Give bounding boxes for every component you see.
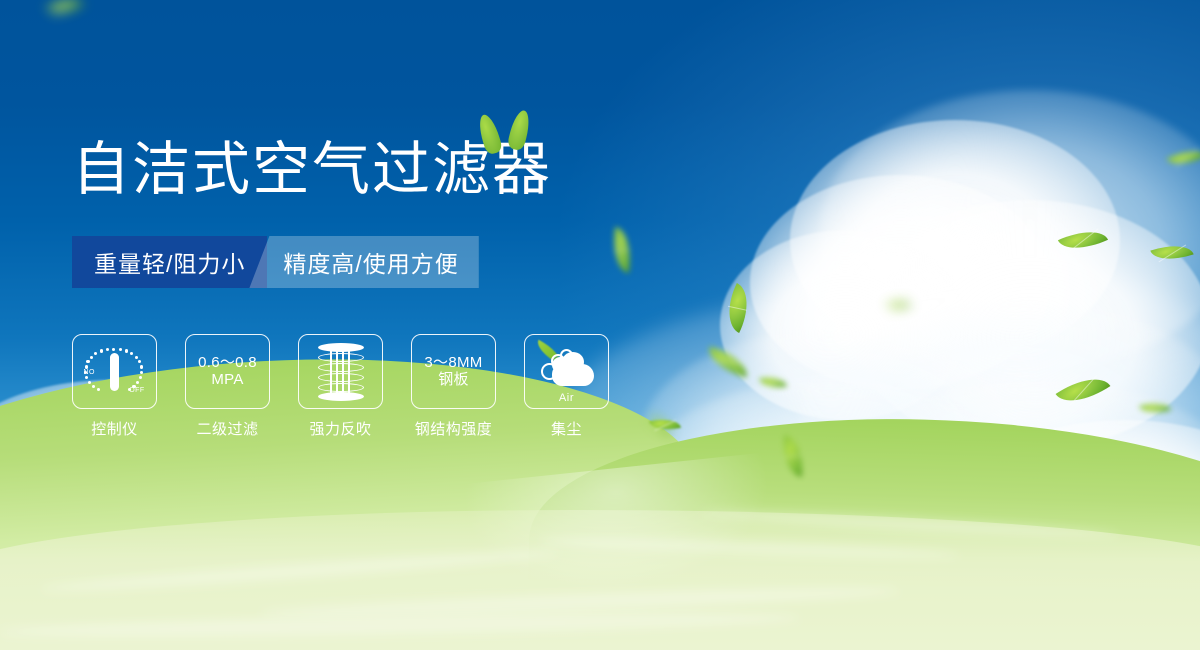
gauge-needle [110, 353, 119, 391]
feature-label: 强力反吹 [309, 418, 371, 439]
feature-box: 0.6～0.8 MPA [185, 334, 270, 409]
dust-cloud-icon [538, 348, 596, 388]
pressure-value-line2: MPA [211, 372, 243, 389]
gauge-label-no: NO [84, 369, 95, 376]
sprout-leaf-left [476, 112, 504, 155]
feature-label: 集尘 [551, 418, 582, 439]
subtitle-segment-right: 精度高/使用方便 [249, 236, 478, 288]
pressure-value-line1: 0.6～0.8 [198, 355, 257, 372]
dust-icon-caption: Air [525, 392, 608, 404]
feature-item-backblow[interactable]: 强力反吹 [298, 334, 383, 439]
feature-label: 二级过滤 [196, 418, 258, 439]
feature-item-control[interactable]: NO OFF 控制仪 [72, 334, 157, 439]
feature-label: 钢结构强度 [415, 418, 493, 439]
feature-item-dust[interactable]: Air 集尘 [524, 334, 609, 439]
control-gauge-icon: NO OFF [84, 344, 146, 400]
subtitle-bar: 重量轻/阻力小 精度高/使用方便 [72, 236, 479, 288]
feature-item-steel[interactable]: 3～8MM 钢板 钢结构强度 [411, 334, 496, 439]
feature-box: 3～8MM 钢板 [411, 334, 496, 409]
feature-label: 控制仪 [91, 418, 138, 439]
feature-box [298, 334, 383, 409]
sprout-leaves-icon [476, 108, 540, 160]
sprout-leaf-right [506, 109, 532, 152]
feature-list: NO OFF 控制仪 0.6～0.8 MPA 二级过滤 [72, 334, 609, 439]
steel-value-line2: 钢板 [438, 372, 469, 389]
feature-box: NO OFF [72, 334, 157, 409]
product-banner: 自洁式空气过滤器 重量轻/阻力小 精度高/使用方便 [0, 0, 1200, 650]
steel-value-line1: 3～8MM [424, 355, 482, 372]
feature-item-pressure[interactable]: 0.6～0.8 MPA 二级过滤 [185, 334, 270, 439]
feature-box: Air [524, 334, 609, 409]
subtitle-segment-left: 重量轻/阻力小 [72, 236, 267, 288]
title-block: 自洁式空气过滤器 [72, 140, 552, 198]
gauge-label-off: OFF [129, 387, 144, 394]
dust-particle [560, 349, 573, 362]
filter-cartridge-icon [318, 343, 364, 401]
